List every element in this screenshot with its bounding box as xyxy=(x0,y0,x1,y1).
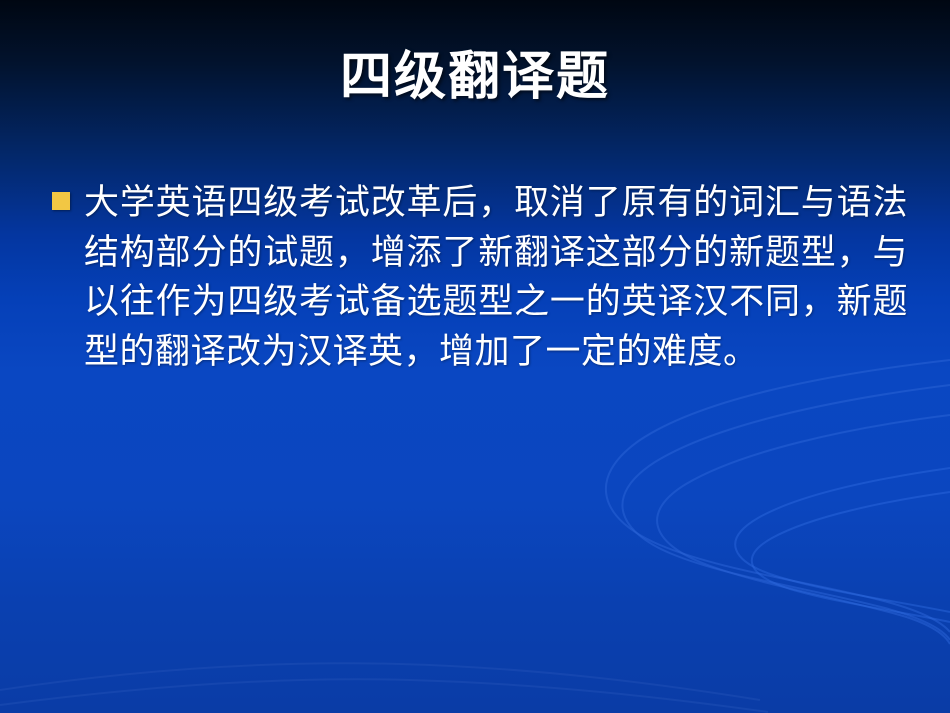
slide-title: 四级翻译题 xyxy=(0,48,950,108)
slide-body: 大学英语四级考试改革后，取消了原有的词汇与语法结构部分的试题，增添了新翻译这部分… xyxy=(52,178,908,377)
presentation-slide: 四级翻译题 大学英语四级考试改革后，取消了原有的词汇与语法结构部分的试题，增添了… xyxy=(0,0,950,713)
bullet-paragraph: 大学英语四级考试改革后，取消了原有的词汇与语法结构部分的试题，增添了新翻译这部分… xyxy=(84,178,908,377)
square-bullet-icon xyxy=(52,192,70,210)
